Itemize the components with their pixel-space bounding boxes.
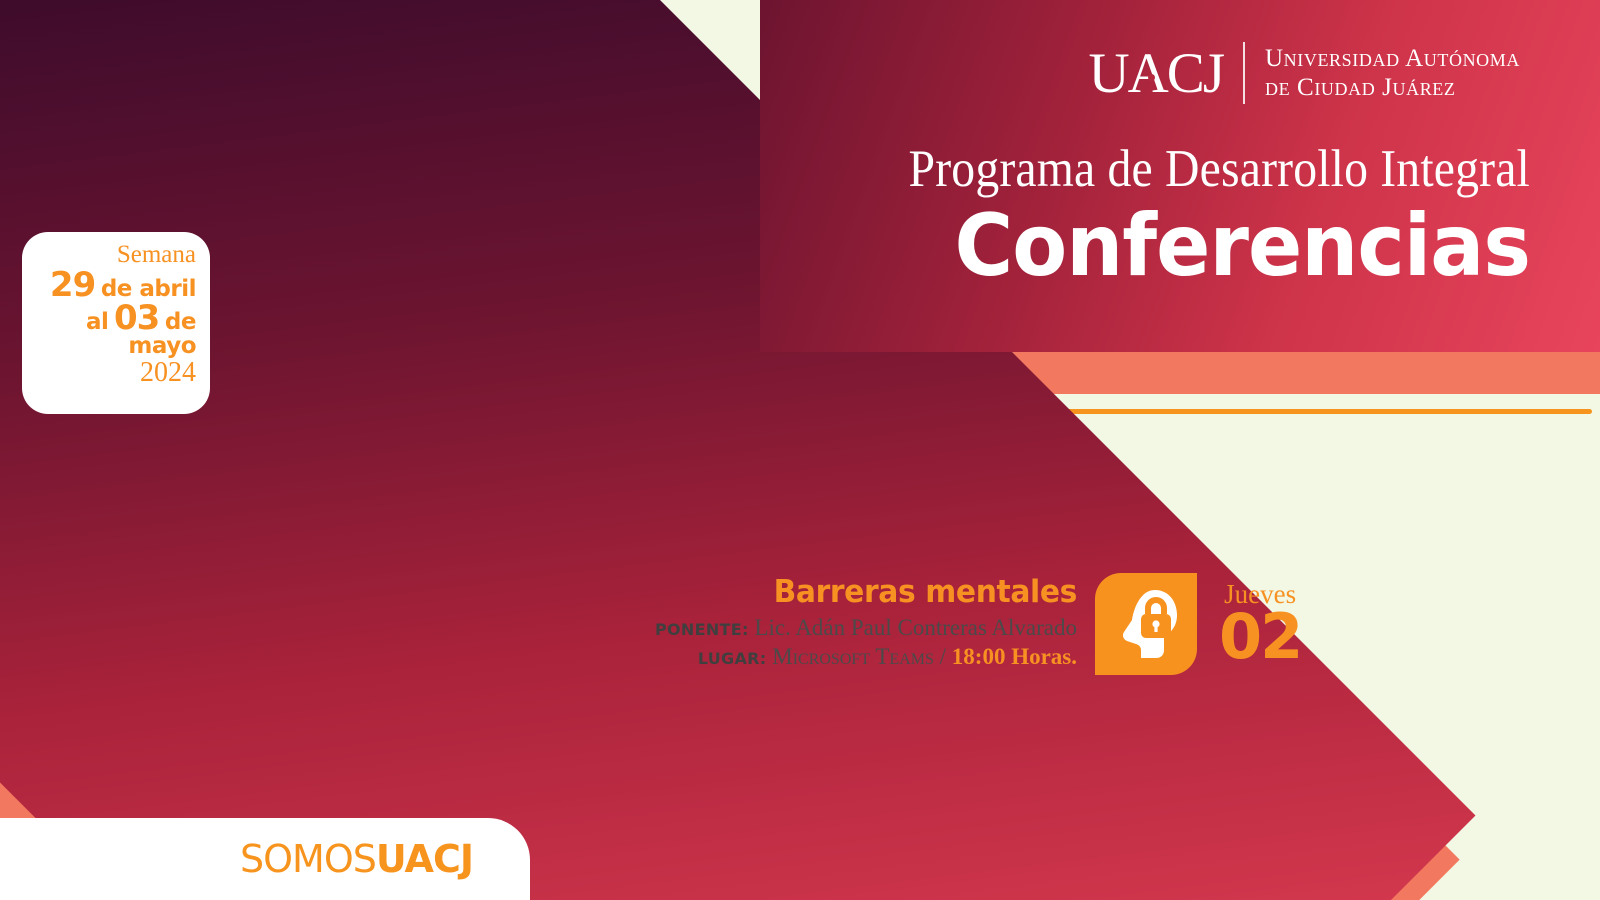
university-name-line2: de Ciudad Juárez [1265, 73, 1520, 103]
somos-uacj-word: UACJ [376, 837, 473, 881]
conference-day-box: Jueves 02 [1219, 581, 1301, 667]
conference-text-block: Barreras mentales PONENTE: Lic. Adán Pau… [630, 576, 1095, 671]
uacj-logo: UACJ Universidad Autónoma de Ciudad Juár… [1020, 36, 1520, 110]
uacj-logo-mark: UACJ [1088, 45, 1223, 102]
speaker-name: Lic. Adán Paul Contreras Alvarado [754, 615, 1077, 640]
venue-name: Microsoft Teams [772, 644, 934, 669]
somos-word: SOMOS [240, 837, 376, 881]
head-with-lock-icon [1111, 586, 1181, 662]
conference-title: Barreras mentales [648, 576, 1077, 609]
poster-canvas: UACJ Universidad Autónoma de Ciudad Juár… [0, 0, 1600, 900]
somos-uacj-text: SOMOSUACJ [240, 840, 473, 878]
uacj-logo-letters: UACJ [1088, 42, 1223, 105]
page-title: Conferencias [591, 203, 1530, 291]
title-block: Programa de Desarrollo Integral Conferen… [520, 142, 1530, 291]
venue-line: LUGAR: Microsoft Teams / 18:00 Horas. [630, 642, 1077, 671]
logo-divider [1243, 42, 1245, 104]
university-name-line1: Universidad Autónoma [1265, 44, 1520, 74]
week-date-card: Semana 29 de abril al 03 de mayo 2024 [22, 232, 210, 414]
day-number: 02 [1219, 608, 1301, 667]
somos-uacj-dot [436, 861, 442, 867]
conference-time: 18:00 Horas. [952, 644, 1077, 669]
week-label: Semana [32, 242, 196, 267]
de-label: de [165, 309, 196, 335]
end-month: mayo [128, 333, 196, 359]
venue-label: LUGAR: [698, 649, 767, 668]
somos-uacj-logo: SOMOSUACJ [240, 820, 500, 898]
program-title: Programa de Desarrollo Integral [621, 142, 1530, 197]
start-day: 29 [50, 265, 95, 305]
conference-entry: Barreras mentales PONENTE: Lic. Adán Pau… [630, 566, 1350, 682]
conference-icon-box [1095, 573, 1197, 675]
date-range-line3: mayo [32, 335, 196, 357]
speaker-line: PONENTE: Lic. Adán Paul Contreras Alvara… [630, 613, 1077, 642]
year-label: 2024 [32, 358, 196, 387]
university-name: Universidad Autónoma de Ciudad Juárez [1265, 44, 1520, 103]
venue-separator: / [940, 644, 946, 669]
date-range-line2: al 03 de [32, 302, 196, 335]
uacj-logo-dot [1148, 74, 1155, 81]
speaker-label: PONENTE: [655, 620, 749, 639]
al-label: al [86, 309, 108, 335]
